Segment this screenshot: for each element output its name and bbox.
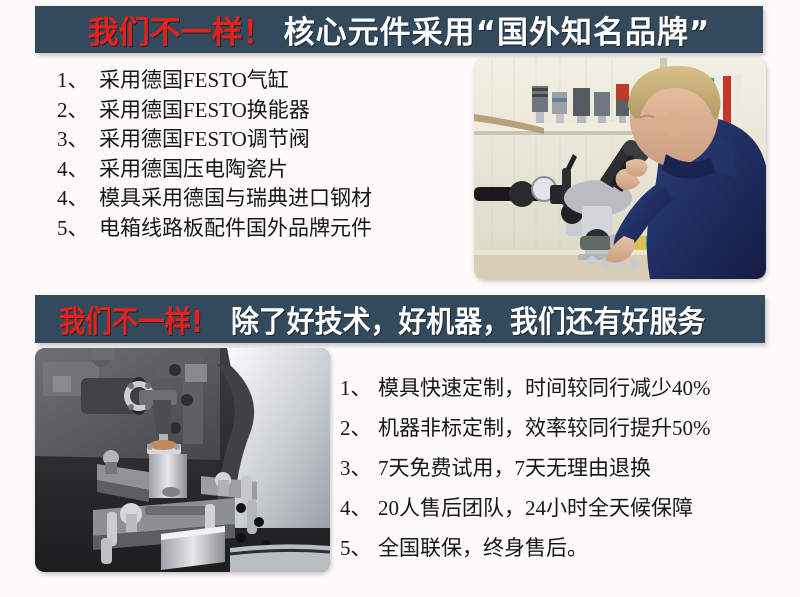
list-item-number: 1、 — [57, 66, 99, 96]
photo-precision-machine — [35, 348, 330, 572]
list-item: 2、 采用德国FESTO换能器 — [57, 96, 372, 126]
banner-1-highlight: 我们不一样！ — [88, 7, 274, 52]
list-item: 2、 机器非标定制，效率较同行提升50% — [340, 408, 711, 448]
list-item-text: 采用德国FESTO换能器 — [99, 96, 310, 126]
list-item-number: 4、 — [57, 155, 99, 185]
list-item-number: 2、 — [340, 408, 378, 448]
list-item-number: 3、 — [57, 125, 99, 155]
list-item: 4、 模具采用德国与瑞典进口钢材 — [57, 184, 372, 214]
list-item-text: 采用德国FESTO气缸 — [99, 66, 289, 96]
list-item: 1、 模具快速定制，时间较同行减少40% — [340, 368, 711, 408]
banner-2-text: 除了好技术，好机器，我们还有好服务 — [231, 297, 705, 341]
list-item-number: 4、 — [57, 184, 99, 214]
list-item-number: 1、 — [340, 368, 378, 408]
service-feature-list: 1、 模具快速定制，时间较同行减少40% 2、 机器非标定制，效率较同行提升50… — [340, 368, 711, 568]
list-item-number: 4、 — [340, 488, 378, 528]
list-item-number: 5、 — [57, 214, 99, 244]
list-item: 3、 采用德国FESTO调节阀 — [57, 125, 372, 155]
banner-service-advantage: 我们不一样! 除了好技术，好机器，我们还有好服务 — [35, 295, 765, 343]
microscope-scene-illustration — [474, 58, 766, 279]
list-item-number: 2、 — [57, 96, 99, 126]
list-item: 5、 全国联保，终身售后。 — [340, 528, 711, 568]
list-item-text: 20人售后团队，24小时全天候保障 — [378, 488, 693, 528]
list-item-text: 电箱线路板配件国外品牌元件 — [99, 214, 372, 244]
banner-2-highlight: 我们不一样! — [59, 297, 203, 341]
list-item-text: 全国联保，终身售后。 — [378, 528, 588, 568]
list-item-text: 采用德国压电陶瓷片 — [99, 155, 288, 185]
list-item: 1、 采用德国FESTO气缸 — [57, 66, 372, 96]
list-item-text: 机器非标定制，效率较同行提升50% — [378, 408, 711, 448]
list-item-number: 3、 — [340, 448, 378, 488]
list-item-text: 采用德国FESTO调节阀 — [99, 125, 310, 155]
list-item-text: 7天免费试用，7天无理由退换 — [378, 448, 651, 488]
list-item: 3、 7天免费试用，7天无理由退换 — [340, 448, 711, 488]
photo-microscope-inspection — [474, 58, 766, 279]
list-item: 4、 采用德国压电陶瓷片 — [57, 155, 372, 185]
component-feature-list: 1、 采用德国FESTO气缸 2、 采用德国FESTO换能器 3、 采用德国FE… — [57, 66, 372, 243]
list-item: 5、 电箱线路板配件国外品牌元件 — [57, 214, 372, 244]
machine-closeup-illustration — [35, 348, 330, 572]
list-item-text: 模具采用德国与瑞典进口钢材 — [99, 184, 372, 214]
list-item-number: 5、 — [340, 528, 378, 568]
banner-1-text: 核心元件采用“国外知名品牌” — [284, 7, 711, 52]
banner-core-components: 我们不一样！ 核心元件采用“国外知名品牌” — [35, 6, 763, 53]
list-item-text: 模具快速定制，时间较同行减少40% — [378, 368, 711, 408]
list-item: 4、 20人售后团队，24小时全天候保障 — [340, 488, 711, 528]
promo-page: 我们不一样！ 核心元件采用“国外知名品牌” 1、 采用德国FESTO气缸 2、 … — [0, 0, 800, 597]
